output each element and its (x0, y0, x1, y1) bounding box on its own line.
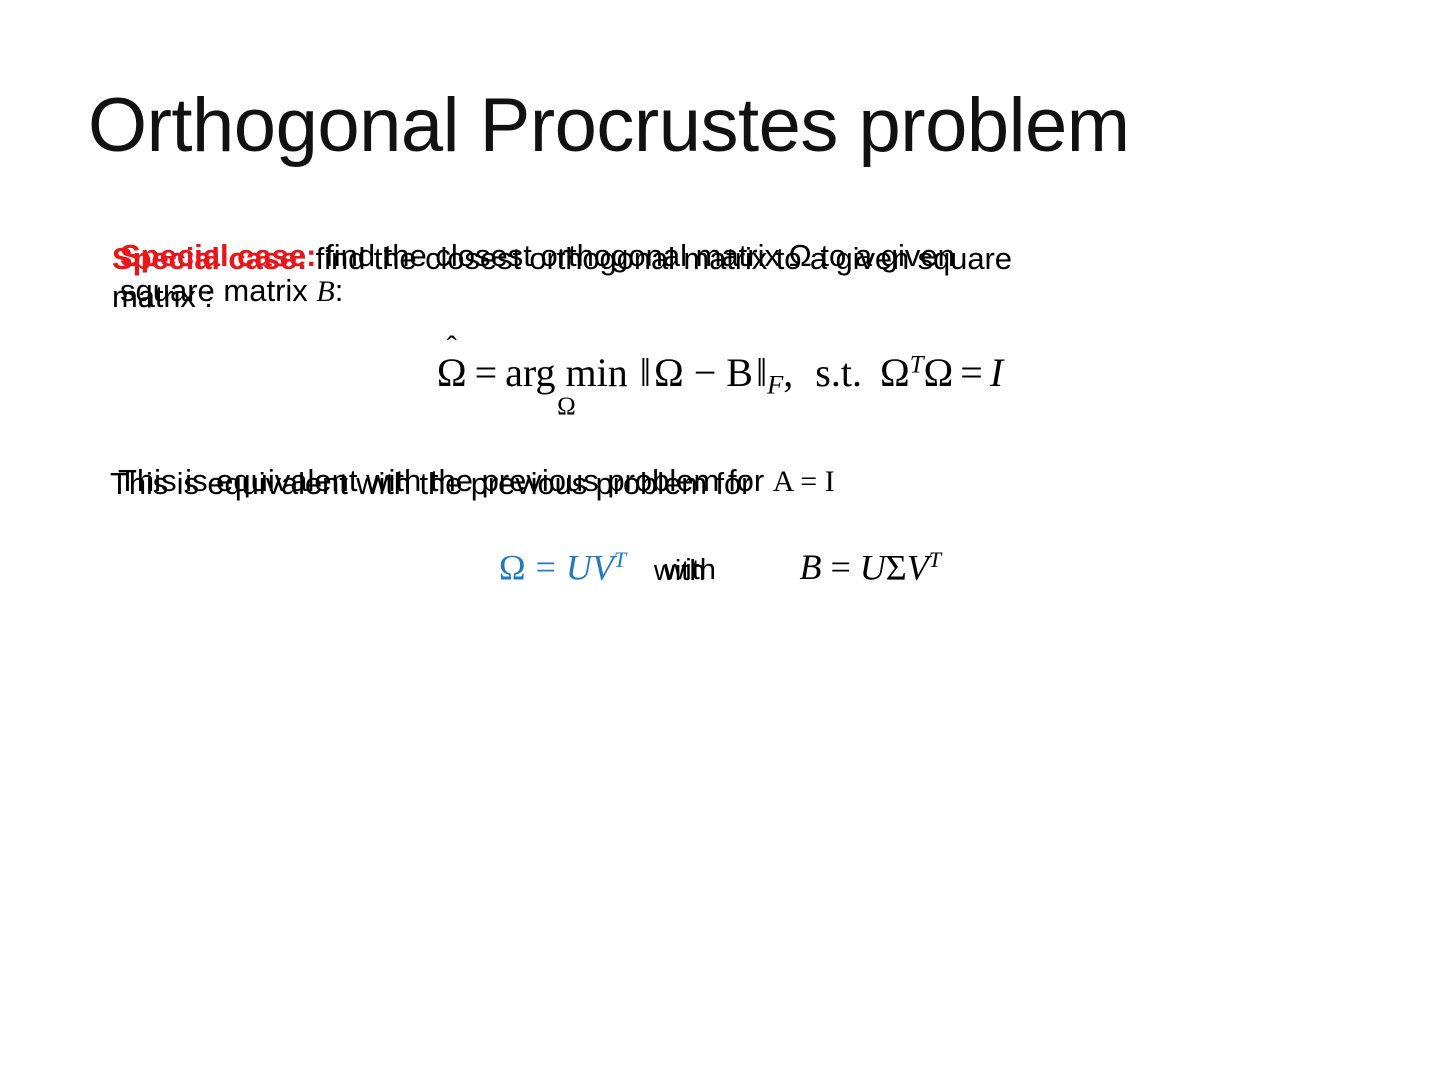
equation-1-equals: = (475, 350, 498, 395)
equation-2-cond-U: U (860, 547, 886, 587)
equation-2-U: U (566, 547, 592, 587)
inline-math-A-equals-I: A = I (773, 465, 835, 498)
paragraph-2-text: This is equivalent with the previous pro… (118, 463, 773, 498)
equation-1-constraint-omega-2: Ω (924, 350, 954, 395)
paragraph-1-math-layer-line-2: square matrix B: (120, 272, 343, 311)
equation-2-cond-sigma: Σ (886, 547, 907, 587)
equation-2-cond-equals: = (830, 547, 850, 587)
paragraph-1-math-text-line-2: square matrix (120, 273, 316, 308)
equation-1-constraint-label: s.t. (815, 350, 862, 395)
equation-2-cond-V: V (907, 547, 929, 587)
equation-1-argmin-subscript: Ω (557, 394, 576, 419)
equation-2-cond-B: B (799, 547, 821, 587)
paragraph-1-math-layer-line-1: Special case: find the closest orthogona… (120, 237, 955, 275)
equation-2-V: V (592, 547, 614, 587)
paragraph-1-math-text-line-1: find the closest orthogonal matrix Ω to … (316, 238, 954, 273)
equation-1-norm-subscript: F (767, 369, 783, 399)
equation-1-argmin-label: arg min (505, 350, 628, 395)
equation-2-transpose: T (614, 547, 626, 572)
display-equation-2: Ω=UVTwithwithB=UΣVT (0, 548, 1440, 588)
equation-2-equals: = (536, 547, 556, 587)
equation-1-norm-open: ‖ (640, 350, 651, 395)
equation-1-lhs: ˆΩ (437, 352, 467, 394)
equation-1-constraint-transpose: T (910, 351, 924, 378)
slide-canvas: Orthogonal Procrustes problem Special ca… (0, 0, 1440, 1080)
equation-1-constraint-equals: = (960, 350, 983, 395)
equation-2-omega: Ω (499, 547, 526, 587)
slide-body: Special case: find the closest orthogona… (0, 0, 1440, 1080)
paragraph-2-math-layer: This is equivalent with the previous pro… (118, 462, 835, 501)
equation-1-norm-close: ‖ (756, 350, 767, 395)
equation-1-argmin: arg minΩ (505, 352, 628, 394)
inline-math-B: B (316, 275, 334, 308)
equation-1-comma: , (783, 350, 793, 395)
hat-accent: ˆ (447, 332, 457, 362)
special-case-label: Special case: (120, 238, 316, 273)
display-equation-1: ˆΩ=arg minΩ‖Ω − B‖F,s.t.ΩTΩ=I (0, 352, 1440, 399)
equation-2-with-word-duplicate: with (654, 555, 706, 587)
equation-1-constraint-omega-1: Ω (880, 350, 910, 395)
equation-1-constraint-rhs: I (990, 350, 1003, 395)
paragraph-1-math-colon: : (335, 273, 344, 308)
equation-2-cond-transpose: T (929, 547, 941, 572)
equation-1-norm-body: Ω − B (654, 350, 753, 395)
